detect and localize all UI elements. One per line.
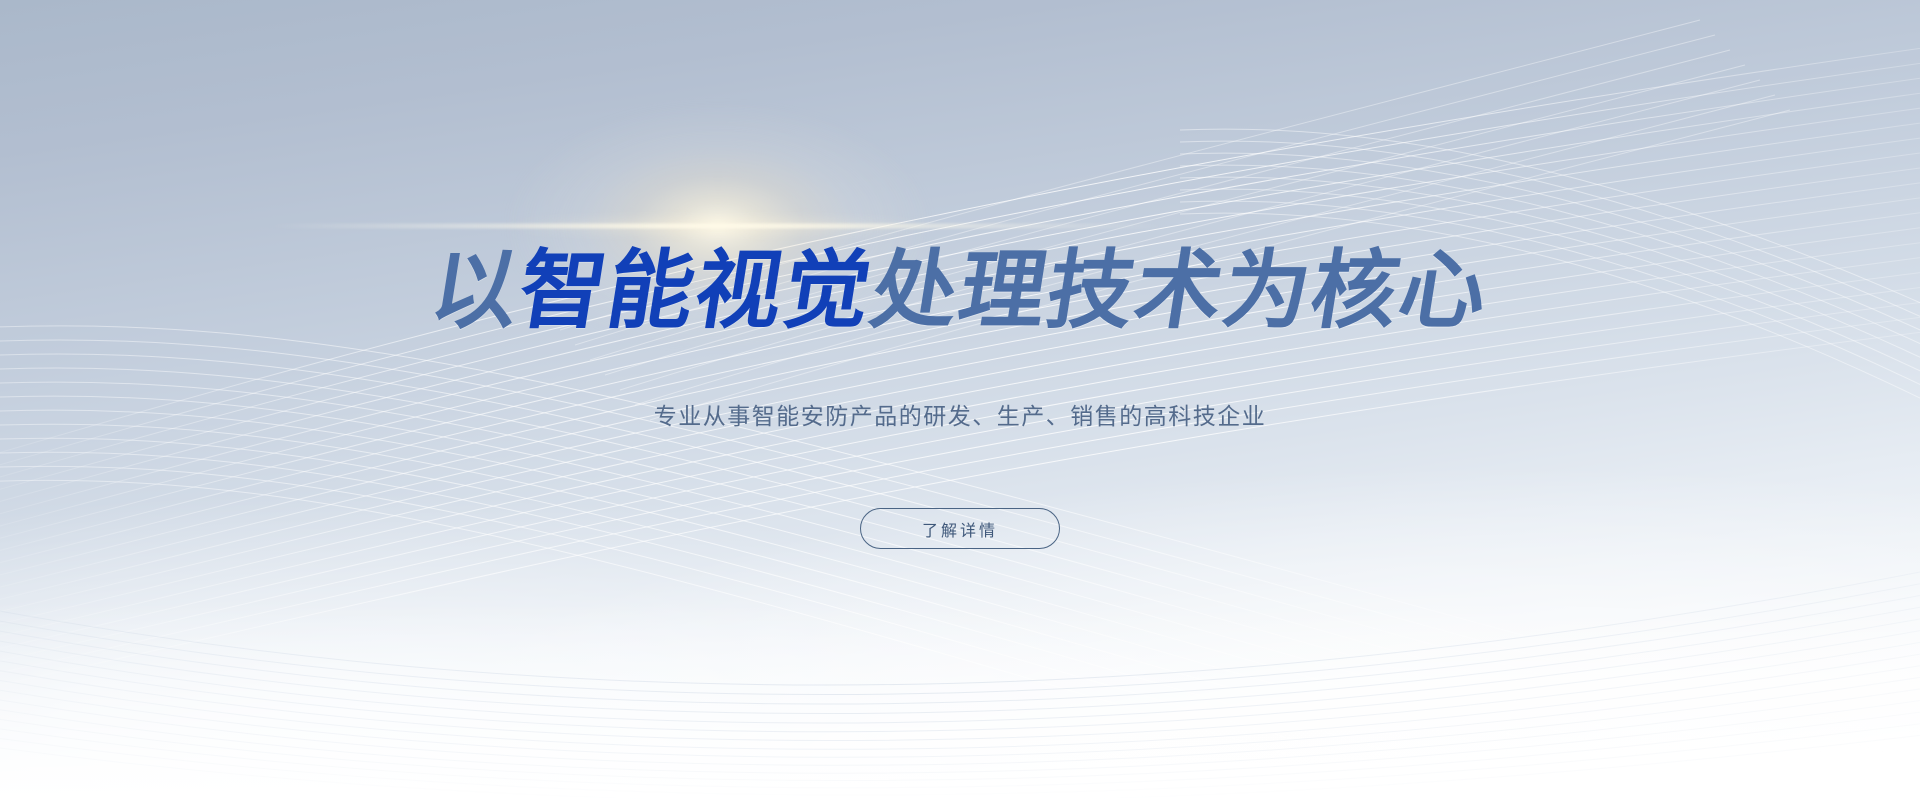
hero-banner: 以智能视觉处理技术为核心 专业从事智能安防产品的研发、生产、销售的高科技企业 了… (0, 0, 1920, 800)
headline-segment-2: 智能视觉 (513, 248, 879, 334)
hero-content: 以智能视觉处理技术为核心 专业从事智能安防产品的研发、生产、销售的高科技企业 了… (0, 0, 1920, 800)
cta-container: 了解详情 (0, 508, 1920, 549)
headline-segment-3: 处理技术为核心 (865, 248, 1495, 334)
headline-segment-1: 以 (425, 248, 527, 334)
page-title: 以智能视觉处理技术为核心 (0, 248, 1920, 334)
learn-more-button[interactable]: 了解详情 (860, 508, 1060, 549)
page-subtitle: 专业从事智能安防产品的研发、生产、销售的高科技企业 (0, 400, 1920, 432)
